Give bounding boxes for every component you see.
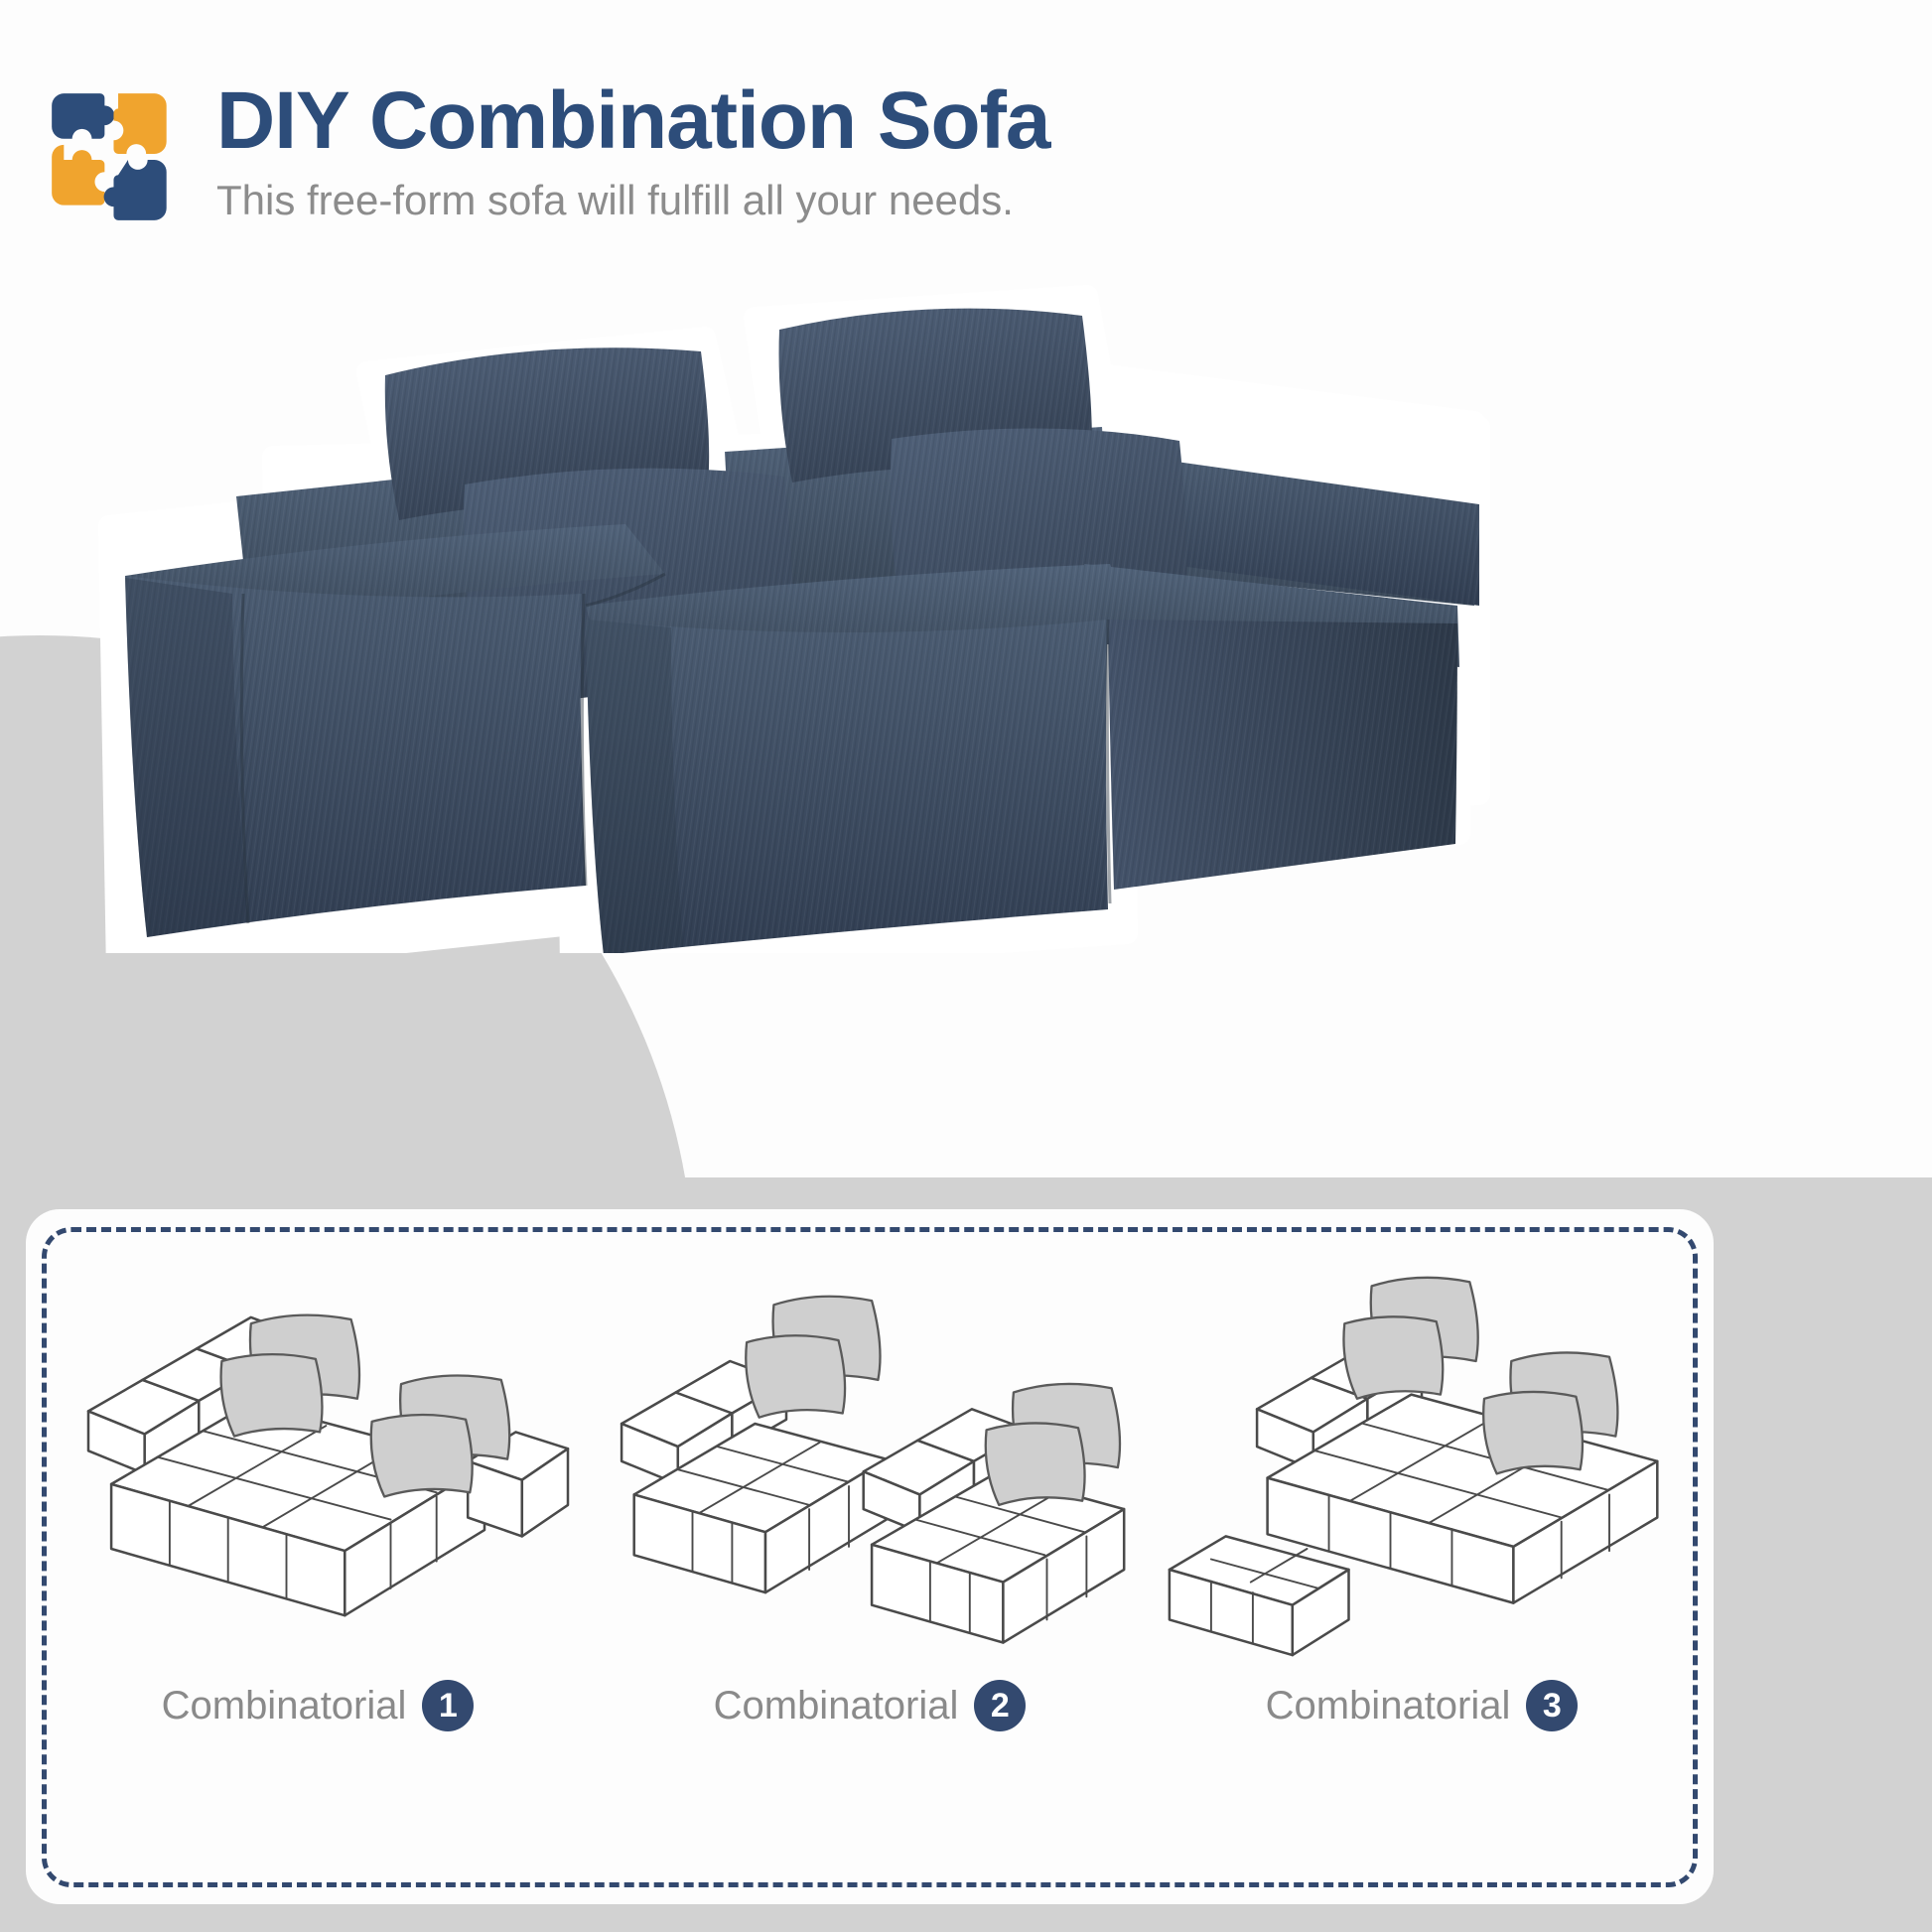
combination-diagram-1 bbox=[42, 1257, 594, 1674]
combination-label-text-3: Combinatorial bbox=[1266, 1684, 1511, 1728]
combination-badge-1: 1 bbox=[422, 1680, 474, 1731]
page-subtitle: This free-form sofa will fulfill all you… bbox=[216, 179, 1050, 222]
header-text-block: DIY Combination Sofa This free-form sofa… bbox=[216, 75, 1050, 222]
combination-item-1[interactable]: Combinatorial 1 bbox=[42, 1227, 594, 1887]
puzzle-logo-icon bbox=[40, 81, 191, 232]
page-header: DIY Combination Sofa This free-form sofa… bbox=[40, 75, 1050, 232]
infographic-canvas: DIY Combination Sofa This free-form sofa… bbox=[0, 0, 1932, 1932]
combination-list: Combinatorial 1 bbox=[42, 1227, 1698, 1887]
page-title: DIY Combination Sofa bbox=[216, 79, 1050, 163]
combination-label-3: Combinatorial 3 bbox=[1266, 1680, 1579, 1731]
hero-sofa-image bbox=[69, 278, 1499, 953]
combination-badge-2: 2 bbox=[974, 1680, 1026, 1731]
combination-label-text-1: Combinatorial bbox=[162, 1684, 407, 1728]
combination-item-3[interactable]: Combinatorial 3 bbox=[1146, 1227, 1698, 1887]
combination-label-2: Combinatorial 2 bbox=[714, 1680, 1027, 1731]
combination-diagram-3 bbox=[1146, 1257, 1698, 1674]
combination-item-2[interactable]: Combinatorial 2 bbox=[594, 1227, 1146, 1887]
combination-label-text-2: Combinatorial bbox=[714, 1684, 959, 1728]
combination-badge-3: 3 bbox=[1526, 1680, 1578, 1731]
combination-label-1: Combinatorial 1 bbox=[162, 1680, 475, 1731]
combination-diagram-2 bbox=[594, 1257, 1146, 1674]
